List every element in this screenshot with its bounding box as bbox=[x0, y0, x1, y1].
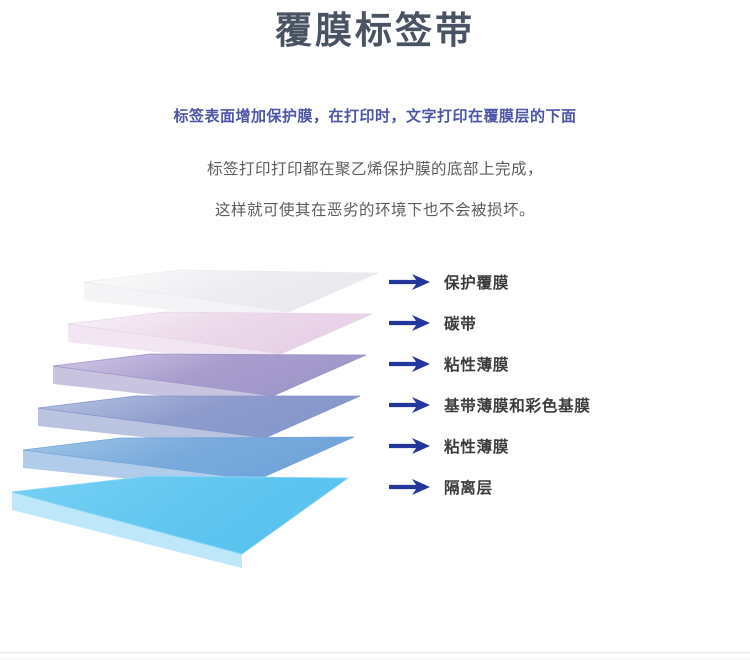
page-title: 覆膜标签带 bbox=[0, 8, 750, 54]
description-line-1: 标签打印打印都在聚乙烯保护膜的底部上完成， bbox=[0, 157, 750, 179]
arrow-right-icon bbox=[388, 312, 432, 334]
callout-label-2: 粘性薄膜 bbox=[444, 353, 509, 375]
description-line-2: 这样就可使其在恶劣的环境下也不会被损坏。 bbox=[0, 198, 750, 220]
callout-row-carbon-ribbon: 碳带 bbox=[388, 311, 477, 335]
arrow-right-icon bbox=[388, 435, 432, 457]
callout-row-release-liner: 隔离层 bbox=[388, 475, 493, 499]
bottom-divider bbox=[0, 652, 750, 653]
callout-label-0: 保护覆膜 bbox=[444, 271, 509, 293]
arrow-right-icon bbox=[388, 353, 432, 375]
callout-row-protective-laminate: 保护覆膜 bbox=[388, 270, 509, 294]
arrow-right-icon bbox=[388, 271, 432, 293]
layer-stack-diagram bbox=[0, 258, 420, 658]
callout-label-1: 碳带 bbox=[444, 312, 477, 334]
arrow-right-icon bbox=[388, 394, 432, 416]
callout-row-adhesive-film-upper: 粘性薄膜 bbox=[388, 352, 509, 376]
callout-label-4: 粘性薄膜 bbox=[444, 435, 509, 457]
highlight-subtitle: 标签表面增加保护膜，在打印时，文字打印在覆膜层的下面 bbox=[0, 105, 750, 126]
callout-label-3: 基带薄膜和彩色基膜 bbox=[444, 394, 591, 416]
layer-shape-5 bbox=[12, 476, 348, 568]
page-root: 覆膜标签带 标签表面增加保护膜，在打印时，文字打印在覆膜层的下面 标签打印打印都… bbox=[0, 0, 750, 660]
arrow-right-icon bbox=[388, 476, 432, 498]
callout-row-base-film-and-color-layer: 基带薄膜和彩色基膜 bbox=[388, 393, 591, 417]
callout-label-5: 隔离层 bbox=[444, 476, 493, 498]
callout-row-adhesive-film-lower: 粘性薄膜 bbox=[388, 434, 509, 458]
